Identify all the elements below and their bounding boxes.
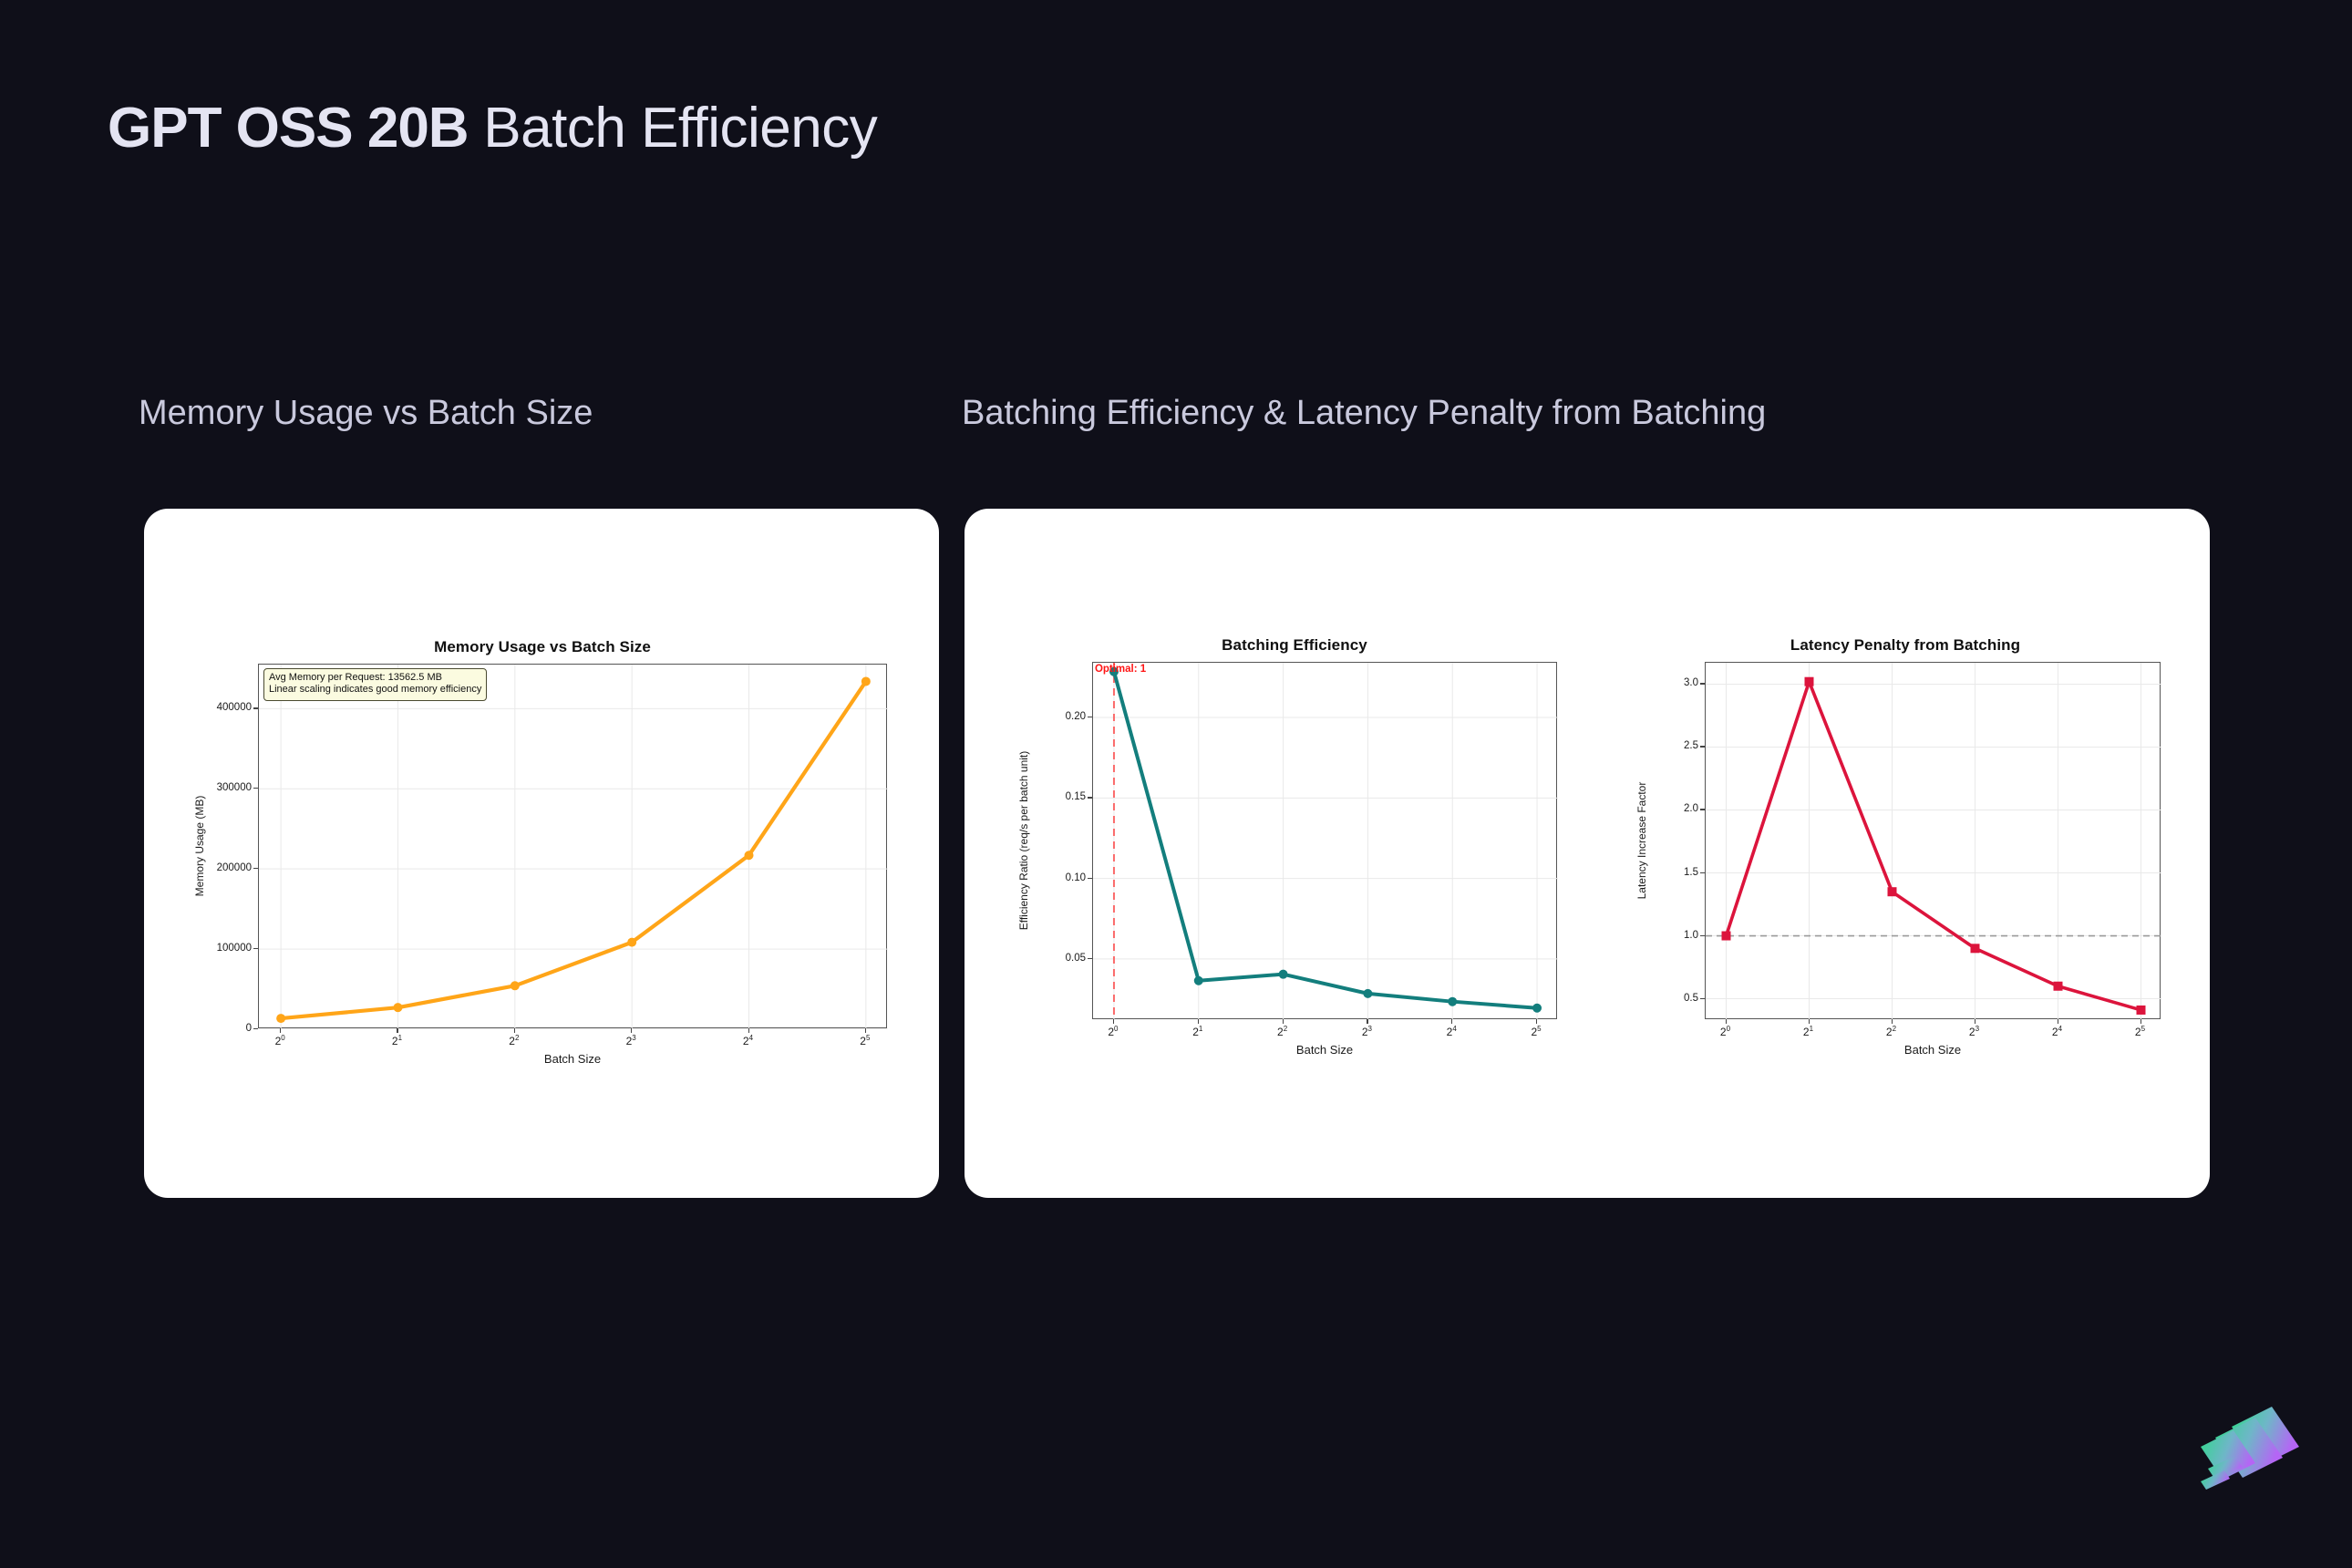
x-tick-label: 24 — [1447, 1025, 1457, 1038]
y-tick-label: 0.20 — [1066, 711, 1086, 722]
x-tick-mark — [397, 1028, 397, 1033]
x-tick-mark — [1113, 1019, 1114, 1024]
figure-batching-efficiency: Batching Efficiency0.050.100.150.2020212… — [994, 636, 1595, 1065]
chart-annotation-box: Avg Memory per Request: 13562.5 MBLinear… — [263, 668, 487, 701]
x-tick-label: 24 — [2052, 1025, 2062, 1038]
plot-area — [1705, 662, 2161, 1019]
x-tick-label: 20 — [1720, 1025, 1730, 1038]
y-tick-mark — [1088, 797, 1092, 798]
y-axis-label: Efficiency Ratio (req/s per batch unit) — [1017, 662, 1030, 1019]
x-tick-mark — [1198, 1019, 1199, 1024]
x-axis-label: Batch Size — [258, 1052, 887, 1066]
figure-memory-usage: Memory Usage vs Batch Size01000002000003… — [173, 638, 912, 1067]
x-tick-mark — [1975, 1019, 1975, 1024]
x-tick-mark — [748, 1028, 749, 1033]
y-tick-mark — [1700, 809, 1705, 810]
x-tick-label: 22 — [1886, 1025, 1896, 1038]
y-tick-mark — [1088, 958, 1092, 959]
y-tick-mark — [1700, 998, 1705, 999]
x-tick-label: 24 — [743, 1034, 753, 1047]
page-title: GPT OSS 20B Batch Efficiency — [108, 96, 877, 160]
x-axis-label: Batch Size — [1705, 1043, 2161, 1057]
x-tick-mark — [1892, 1019, 1893, 1024]
x-tick-label: 20 — [275, 1034, 285, 1047]
y-tick-mark — [1088, 717, 1092, 717]
x-tick-mark — [865, 1028, 866, 1033]
x-tick-mark — [280, 1028, 281, 1033]
y-tick-label: 0.05 — [1066, 953, 1086, 964]
x-tick-label: 25 — [1531, 1025, 1541, 1038]
x-tick-mark — [631, 1028, 632, 1033]
y-tick-mark — [1700, 683, 1705, 684]
y-axis-label: Memory Usage (MB) — [193, 664, 206, 1028]
x-tick-mark — [1283, 1019, 1284, 1024]
optimal-annotation-label: Optimal: 1 — [1095, 664, 1146, 675]
chart-title: Batching Efficiency — [994, 636, 1595, 655]
x-tick-label: 21 — [1803, 1025, 1813, 1038]
y-tick-label: 400000 — [217, 702, 252, 713]
y-tick-label: 0.5 — [1684, 993, 1698, 1004]
y-tick-mark — [1088, 878, 1092, 879]
annotation-line-1: Avg Memory per Request: 13562.5 MB — [269, 672, 481, 684]
x-tick-mark — [2141, 1019, 2141, 1024]
y-tick-label: 2.5 — [1684, 740, 1698, 751]
y-tick-label: 200000 — [217, 862, 252, 873]
x-tick-mark — [1536, 1019, 1537, 1024]
x-tick-mark — [1726, 1019, 1727, 1024]
x-tick-mark — [1367, 1019, 1367, 1024]
x-tick-label: 20 — [1108, 1025, 1118, 1038]
x-tick-mark — [514, 1028, 515, 1033]
plot-area — [1092, 662, 1557, 1019]
y-tick-label: 0 — [246, 1023, 252, 1034]
figure-latency-penalty: Latency Penalty from Batching0.51.01.52.… — [1614, 636, 2197, 1065]
brand-logo-icon — [2188, 1390, 2316, 1500]
y-tick-mark — [253, 948, 258, 949]
x-tick-label: 22 — [1277, 1025, 1287, 1038]
x-tick-label: 25 — [2135, 1025, 2145, 1038]
plot-area — [258, 664, 887, 1028]
annotation-line-2: Linear scaling indicates good memory eff… — [269, 684, 481, 696]
y-tick-label: 300000 — [217, 782, 252, 793]
y-tick-mark — [253, 1028, 258, 1029]
y-tick-label: 1.0 — [1684, 930, 1698, 941]
y-axis-label: Latency Increase Factor — [1635, 662, 1648, 1019]
x-tick-label: 21 — [1192, 1025, 1202, 1038]
y-tick-label: 1.5 — [1684, 867, 1698, 878]
page-title-light: Batch Efficiency — [469, 97, 878, 160]
y-tick-mark — [253, 707, 258, 708]
y-tick-mark — [253, 868, 258, 869]
x-axis-label: Batch Size — [1092, 1043, 1557, 1057]
x-tick-mark — [1809, 1019, 1810, 1024]
y-tick-label: 2.0 — [1684, 803, 1698, 814]
y-tick-label: 3.0 — [1684, 677, 1698, 688]
chart-title: Latency Penalty from Batching — [1614, 636, 2197, 655]
x-tick-label: 22 — [509, 1034, 519, 1047]
x-tick-label: 23 — [1362, 1025, 1372, 1038]
y-tick-mark — [1700, 935, 1705, 936]
x-tick-label: 23 — [1969, 1025, 1979, 1038]
x-tick-mark — [2058, 1019, 2058, 1024]
chart-title: Memory Usage vs Batch Size — [173, 638, 912, 656]
y-tick-mark — [253, 788, 258, 789]
y-tick-label: 0.15 — [1066, 791, 1086, 802]
page-title-bold: GPT OSS 20B — [108, 97, 469, 160]
x-tick-label: 21 — [392, 1034, 402, 1047]
section-heading-memory: Memory Usage vs Batch Size — [139, 394, 593, 433]
y-tick-mark — [1700, 746, 1705, 747]
section-heading-efficiency: Batching Efficiency & Latency Penalty fr… — [962, 394, 1766, 433]
y-tick-mark — [1700, 872, 1705, 873]
y-tick-label: 0.10 — [1066, 872, 1086, 883]
x-tick-label: 25 — [860, 1034, 870, 1047]
x-tick-label: 23 — [626, 1034, 636, 1047]
x-tick-mark — [1451, 1019, 1452, 1024]
y-tick-label: 100000 — [217, 943, 252, 954]
